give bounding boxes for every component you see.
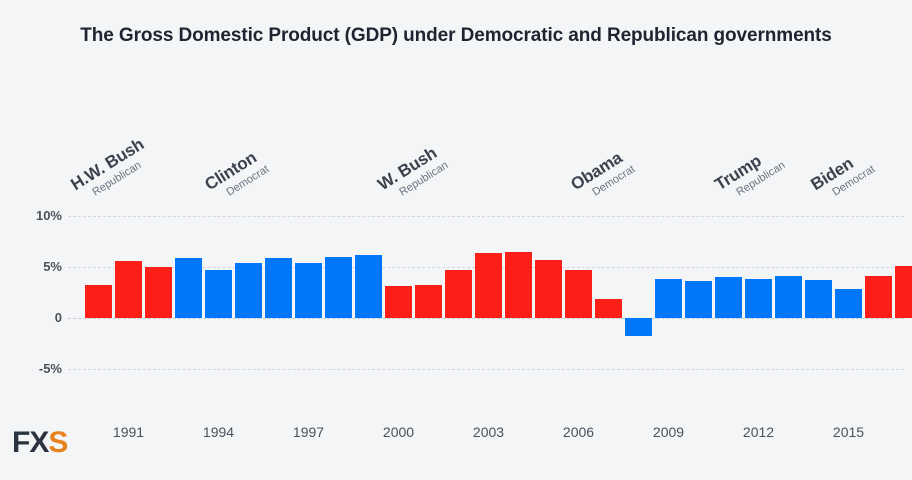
bar bbox=[565, 270, 592, 318]
bar bbox=[685, 281, 712, 318]
bar bbox=[775, 276, 802, 318]
logo-text-s: S bbox=[48, 426, 67, 459]
bar bbox=[475, 253, 502, 318]
bar bbox=[295, 263, 322, 318]
y-tick-label: 5% bbox=[14, 259, 62, 274]
bar bbox=[745, 279, 772, 318]
bar bbox=[115, 261, 142, 318]
bar bbox=[265, 258, 292, 318]
president-label-obama: ObamaDemocrat bbox=[567, 148, 626, 195]
president-label-clinton: ClintonDemocrat bbox=[201, 148, 260, 195]
x-tick-label: 1991 bbox=[99, 424, 159, 440]
logo-text-fx: FX bbox=[12, 426, 48, 459]
x-tick-label: 2018 bbox=[909, 424, 912, 440]
gridline-10 bbox=[68, 216, 904, 217]
bar bbox=[595, 299, 622, 318]
bar bbox=[715, 277, 742, 318]
president-label-biden: BidenDemocrat bbox=[807, 154, 857, 195]
bar bbox=[895, 266, 912, 318]
president-label-h-w-bush: H.W. BushRepublican bbox=[67, 134, 147, 195]
y-tick-label: 0 bbox=[14, 310, 62, 325]
bar bbox=[445, 270, 472, 318]
bar bbox=[625, 318, 652, 336]
bar bbox=[175, 258, 202, 318]
x-tick-label: 1994 bbox=[189, 424, 249, 440]
bar bbox=[205, 270, 232, 318]
president-label-w-bush: W. BushRepublican bbox=[374, 143, 440, 195]
x-tick-label: 2009 bbox=[639, 424, 699, 440]
bar bbox=[235, 263, 262, 318]
bar bbox=[835, 289, 862, 318]
bar bbox=[325, 257, 352, 319]
y-tick-label: 10% bbox=[14, 208, 62, 223]
bar bbox=[655, 279, 682, 318]
bar bbox=[355, 255, 382, 318]
bar bbox=[415, 285, 442, 318]
x-tick-label: 1997 bbox=[279, 424, 339, 440]
bar bbox=[805, 280, 832, 318]
bar bbox=[865, 276, 892, 318]
x-tick-label: 2012 bbox=[729, 424, 789, 440]
gdp-bar-chart: The Gross Domestic Product (GDP) under D… bbox=[0, 0, 912, 480]
gridline-0 bbox=[68, 318, 904, 319]
president-label-trump: TrumpRepublican bbox=[711, 151, 765, 195]
bar bbox=[385, 286, 412, 318]
bar bbox=[505, 252, 532, 318]
bar bbox=[85, 285, 112, 318]
plot-area: 10%5%0-5% 199119941997200020032006200920… bbox=[0, 0, 912, 480]
x-tick-label: 2006 bbox=[549, 424, 609, 440]
x-tick-label: 2015 bbox=[819, 424, 879, 440]
fxs-logo: FXS bbox=[12, 428, 67, 458]
bar bbox=[145, 267, 172, 318]
bar bbox=[535, 260, 562, 318]
y-tick-label: -5% bbox=[14, 361, 62, 376]
x-tick-label: 2000 bbox=[369, 424, 429, 440]
x-tick-label: 2003 bbox=[459, 424, 519, 440]
gridline--5 bbox=[68, 369, 904, 370]
